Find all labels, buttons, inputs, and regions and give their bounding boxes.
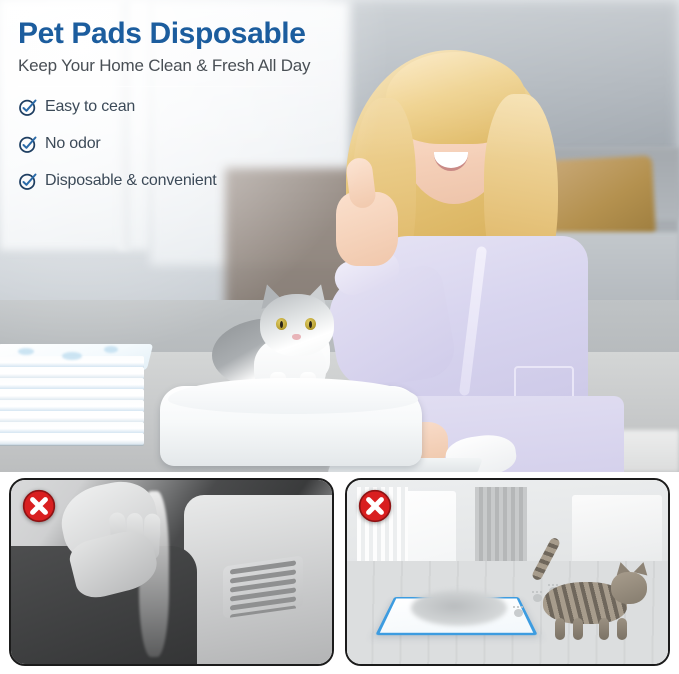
divider — [18, 86, 318, 87]
feature-label: Easy to cean — [45, 98, 135, 116]
cat-pupil-left — [280, 321, 283, 328]
product-infographic: Pet Pads Disposable Keep Your Home Clean… — [0, 0, 679, 674]
check-circle-icon — [18, 97, 38, 117]
headline-block: Pet Pads Disposable Keep Your Home Clean… — [18, 18, 438, 208]
page-title: Pet Pads Disposable — [18, 18, 438, 50]
washing-litter-box-panel — [9, 478, 334, 666]
cat-nose — [292, 334, 301, 340]
check-circle-icon — [18, 171, 38, 191]
red-x-icon — [22, 489, 56, 523]
hero-lifestyle-photo: Pet Pads Disposable Keep Your Home Clean… — [0, 0, 679, 472]
feature-label: No odor — [45, 135, 101, 153]
feature-list: Easy to cean No odor — [18, 97, 438, 191]
red-x-icon — [358, 489, 392, 523]
list-item: No odor — [18, 134, 438, 154]
kitten-head — [611, 572, 647, 604]
list-item: Disposable & convenient — [18, 171, 438, 191]
cat-pupil-right — [309, 321, 312, 328]
check-circle-icon — [18, 134, 38, 154]
gray-curtain — [475, 487, 526, 568]
litter-box — [150, 372, 430, 472]
comparison-panels — [0, 472, 679, 674]
kitten — [537, 564, 649, 642]
feature-label: Disposable & convenient — [45, 172, 217, 190]
list-item: Easy to cean — [18, 97, 438, 117]
page-subtitle: Keep Your Home Clean & Fresh All Day — [18, 56, 438, 76]
cat-head — [260, 294, 334, 356]
soiled-pad-panel — [345, 478, 670, 666]
litter-box-rim — [168, 378, 418, 414]
disposable-pad-stack — [0, 356, 146, 452]
